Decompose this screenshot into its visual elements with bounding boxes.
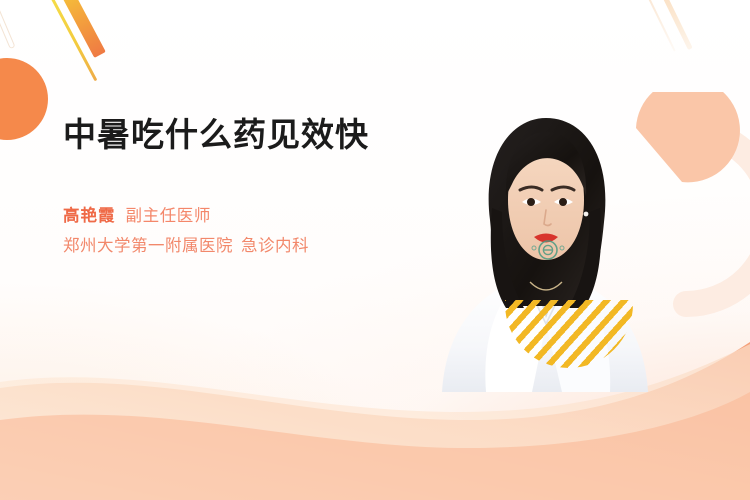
doctor-affiliation-line: 郑州大学第一附属医院急诊内科 — [63, 231, 423, 261]
text-block: 中暑吃什么药见效快 高艳霞副主任医师 郑州大学第一附属医院急诊内科 — [63, 112, 423, 261]
doctor-name: 高艳霞 — [63, 207, 116, 225]
striped-semicircle-decor — [505, 300, 633, 368]
hospital-name: 郑州大学第一附属医院 — [63, 237, 233, 255]
page-title: 中暑吃什么药见效快 — [63, 112, 423, 158]
department-name: 急诊内科 — [241, 237, 309, 255]
poster-canvas: 中暑吃什么药见效快 高艳霞副主任医师 郑州大学第一附属医院急诊内科 — [0, 0, 750, 500]
doctor-identity-line: 高艳霞副主任医师 — [63, 201, 423, 231]
doctor-professional-title: 副主任医师 — [126, 207, 212, 225]
